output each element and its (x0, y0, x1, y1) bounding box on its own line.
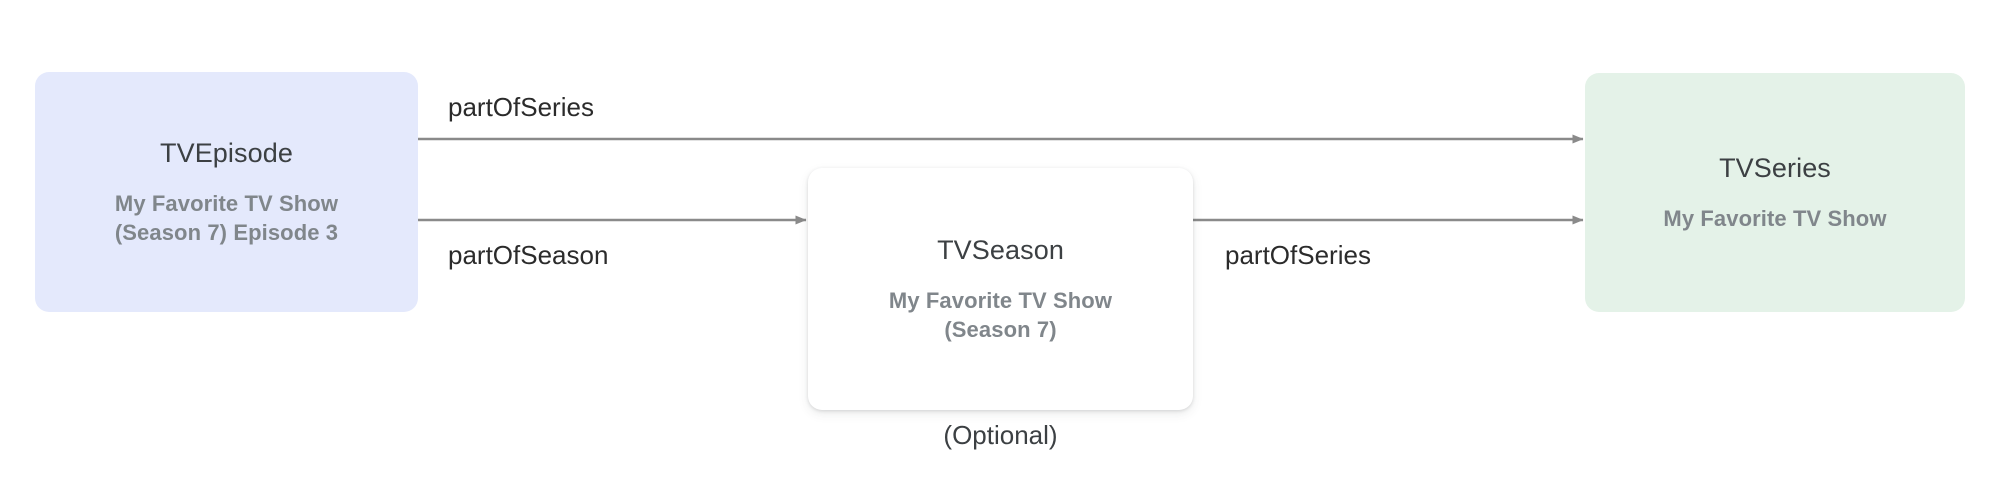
edge-label-season-to-series: partOfSeries (1225, 240, 1371, 271)
node-tvseries-title: TVSeries (1719, 152, 1831, 184)
node-tvseason-optional-caption: (Optional) (808, 420, 1193, 451)
node-tvseries[interactable]: TVSeries My Favorite TV Show (1585, 73, 1965, 312)
node-tvseason-subtitle: My Favorite TV Show (Season 7) (889, 286, 1112, 344)
edge-label-episode-to-series: partOfSeries (448, 92, 594, 123)
edge-label-episode-to-season: partOfSeason (448, 240, 608, 271)
node-tvepisode-subtitle: My Favorite TV Show (Season 7) Episode 3 (115, 189, 338, 247)
node-tvepisode[interactable]: TVEpisode My Favorite TV Show (Season 7)… (35, 72, 418, 312)
diagram-canvas: TVEpisode My Favorite TV Show (Season 7)… (0, 0, 2000, 495)
node-tvseason[interactable]: TVSeason My Favorite TV Show (Season 7) (808, 168, 1193, 410)
node-tvseason-title: TVSeason (937, 234, 1064, 266)
node-tvseries-subtitle: My Favorite TV Show (1663, 204, 1886, 233)
node-tvepisode-title: TVEpisode (160, 137, 293, 169)
